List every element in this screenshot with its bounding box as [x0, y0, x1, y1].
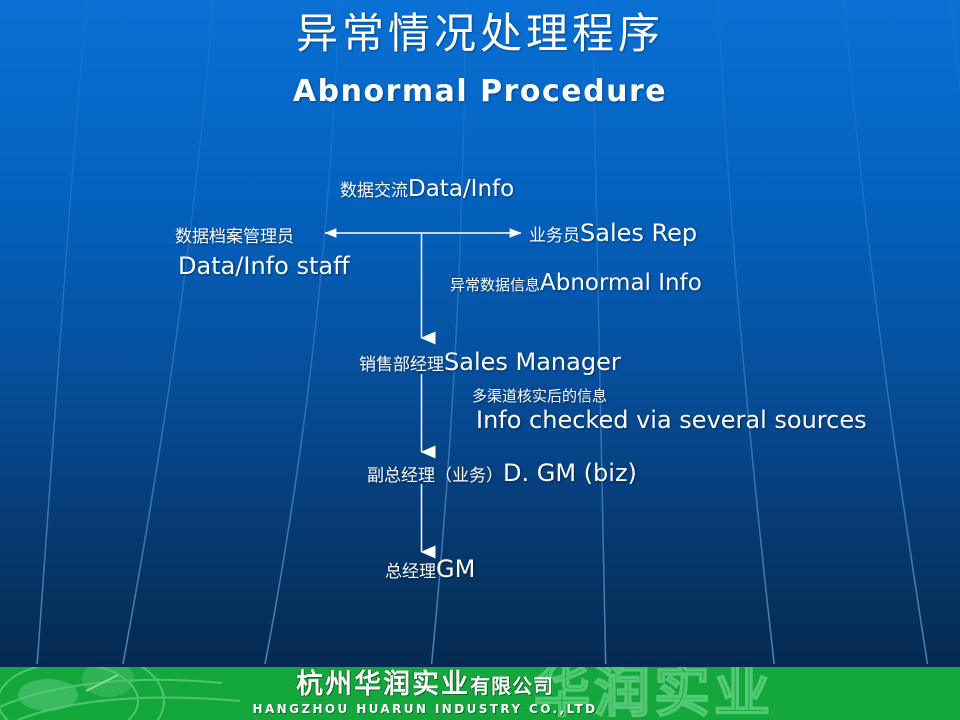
- node-general-manager-en: GM: [436, 555, 475, 583]
- node-sales-rep-cn: 业务员: [529, 226, 580, 246]
- node-data-info-staff-en-label: Data/Info staff: [178, 252, 350, 280]
- logo-text-cn-suffix: 有限公司: [470, 674, 554, 698]
- page-title-cn: 异常情况处理程序: [0, 8, 960, 60]
- node-data-info-link: 数据交流Data/Info: [340, 176, 514, 202]
- node-data-info-staff-cn-label: 数据档案管理员: [175, 227, 294, 247]
- node-abnormal-info: 异常数据信息Abnormal Info: [450, 270, 702, 296]
- node-deputy-gm-en: D. GM (biz): [503, 459, 637, 487]
- logo-text-en: HANGZHOU HUARUN INDUSTRY CO.,LTD: [190, 702, 660, 717]
- node-abnormal-info-en: Abnormal Info: [540, 270, 702, 296]
- node-general-manager-cn: 总经理: [385, 562, 436, 582]
- node-sales-rep: 业务员Sales Rep: [529, 219, 697, 247]
- node-deputy-gm: 副总经理（业务）D. GM (biz): [367, 459, 637, 487]
- node-data-info-staff-cn: 数据档案管理员: [175, 222, 294, 247]
- logo-text-cn-main: 杭州华润实业: [296, 669, 470, 700]
- slide-canvas: 异常情况处理程序 Abnormal Procedure 数据交流Data/Inf…: [0, 0, 960, 720]
- page-title-en: Abnormal Procedure: [0, 74, 960, 109]
- logo-text-cn: 杭州华润实业有限公司: [190, 669, 660, 702]
- node-data-info-staff-en: Data/Info staff: [178, 252, 350, 280]
- footer-banner: 华润实业 杭州华润实业有限公司 HANGZHOU HUARUN INDUSTRY…: [0, 667, 960, 720]
- node-sales-manager: 销售部经理Sales Manager: [359, 348, 621, 376]
- node-checked-info-en: Info checked via several sources: [476, 406, 867, 434]
- company-logo: 杭州华润实业有限公司 HANGZHOU HUARUN INDUSTRY CO.,…: [190, 669, 660, 719]
- node-data-info-link-en: Data/Info: [408, 176, 514, 202]
- node-data-info-link-cn: 数据交流: [340, 181, 408, 201]
- node-general-manager: 总经理GM: [385, 555, 475, 583]
- node-checked-info-cn: 多渠道核实后的信息: [472, 385, 607, 406]
- node-abnormal-info-cn: 异常数据信息: [450, 276, 540, 294]
- node-sales-manager-cn: 销售部经理: [359, 355, 444, 375]
- node-sales-rep-en: Sales Rep: [580, 219, 697, 247]
- node-checked-info-en-label: Info checked via several sources: [476, 406, 867, 434]
- node-sales-manager-en: Sales Manager: [444, 348, 621, 376]
- node-deputy-gm-cn: 副总经理（业务）: [367, 466, 503, 486]
- node-checked-info-cn-label: 多渠道核实后的信息: [472, 387, 607, 405]
